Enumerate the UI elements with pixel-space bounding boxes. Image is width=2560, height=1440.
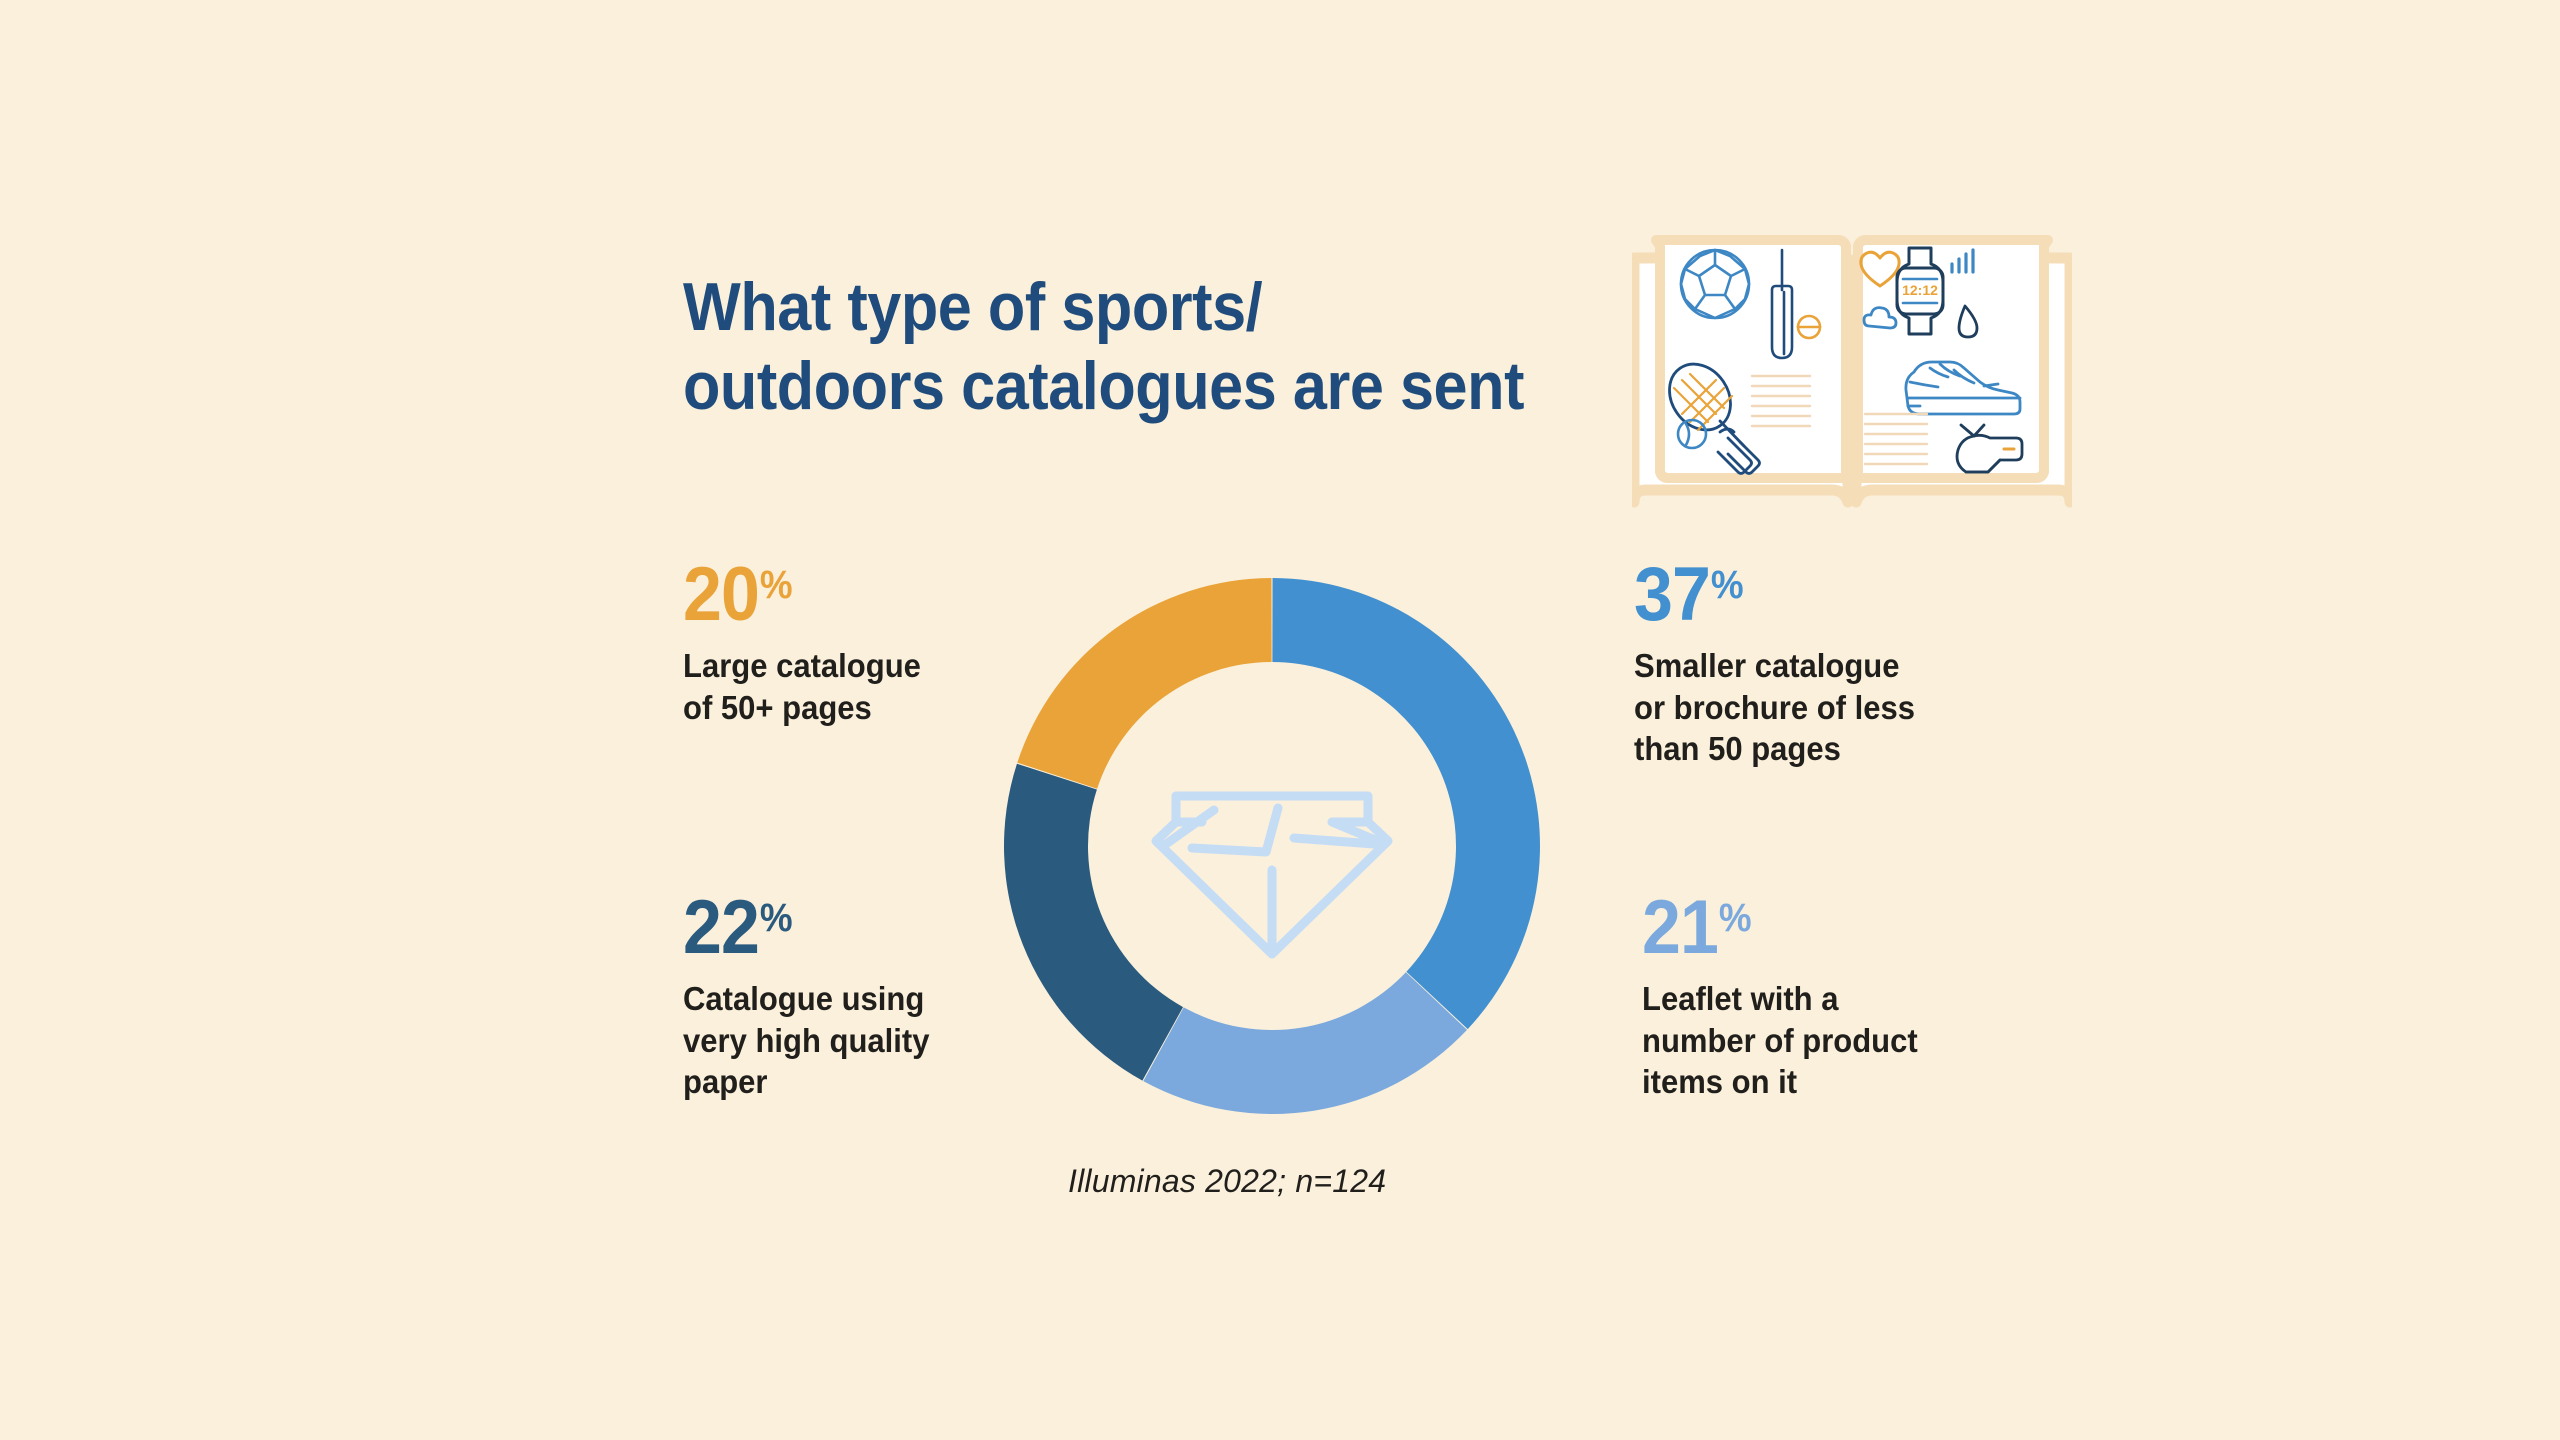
stat-block-20: 20% Large catalogue of 50+ pages bbox=[683, 557, 1013, 728]
stat-value-37: 37% bbox=[1634, 557, 1743, 633]
diamond-gem-icon bbox=[1156, 796, 1388, 954]
donut-segment-21[interactable] bbox=[1143, 972, 1467, 1114]
stat-block-22: 22% Catalogue using very high quality pa… bbox=[683, 890, 1023, 1103]
donut-chart bbox=[1000, 574, 1544, 1118]
percent-symbol-22: % bbox=[760, 896, 792, 940]
percent-symbol-21: % bbox=[1719, 896, 1751, 940]
percent-symbol-37: % bbox=[1711, 563, 1743, 607]
stat-number-22: 22 bbox=[683, 885, 759, 970]
stat-number-21: 21 bbox=[1642, 885, 1718, 970]
page-title: What type of sports/ outdoors catalogues… bbox=[683, 268, 1583, 426]
stat-description-21: Leaflet with a number of product items o… bbox=[1642, 978, 2018, 1103]
book-right-page bbox=[1858, 240, 2048, 478]
open-sports-catalogue-illustration: 12:12 bbox=[1632, 202, 2072, 522]
percent-symbol-20: % bbox=[760, 563, 792, 607]
stat-description-20: Large catalogue of 50+ pages bbox=[683, 645, 993, 728]
donut-segment-37[interactable] bbox=[1272, 578, 1540, 1029]
stat-description-37: Smaller catalogue or brochure of less th… bbox=[1634, 645, 2010, 770]
stat-block-37: 37% Smaller catalogue or brochure of les… bbox=[1634, 557, 2034, 770]
stat-value-21: 21% bbox=[1642, 890, 1751, 966]
source-note: Illuminas 2022; n=124 bbox=[1068, 1163, 1386, 1200]
donut-segment-20[interactable] bbox=[1017, 578, 1271, 789]
stat-value-20: 20% bbox=[683, 557, 792, 633]
donut-segment-22[interactable] bbox=[1004, 764, 1183, 1081]
smartwatch-time: 12:12 bbox=[1902, 282, 1938, 298]
stat-number-20: 20 bbox=[683, 552, 759, 637]
stat-value-22: 22% bbox=[683, 890, 792, 966]
stat-description-22: Catalogue using very high quality paper bbox=[683, 978, 1003, 1103]
stat-block-21: 21% Leaflet with a number of product ite… bbox=[1642, 890, 2042, 1103]
stat-number-37: 37 bbox=[1634, 552, 1710, 637]
infographic-canvas: What type of sports/ outdoors catalogues… bbox=[0, 0, 2560, 1440]
